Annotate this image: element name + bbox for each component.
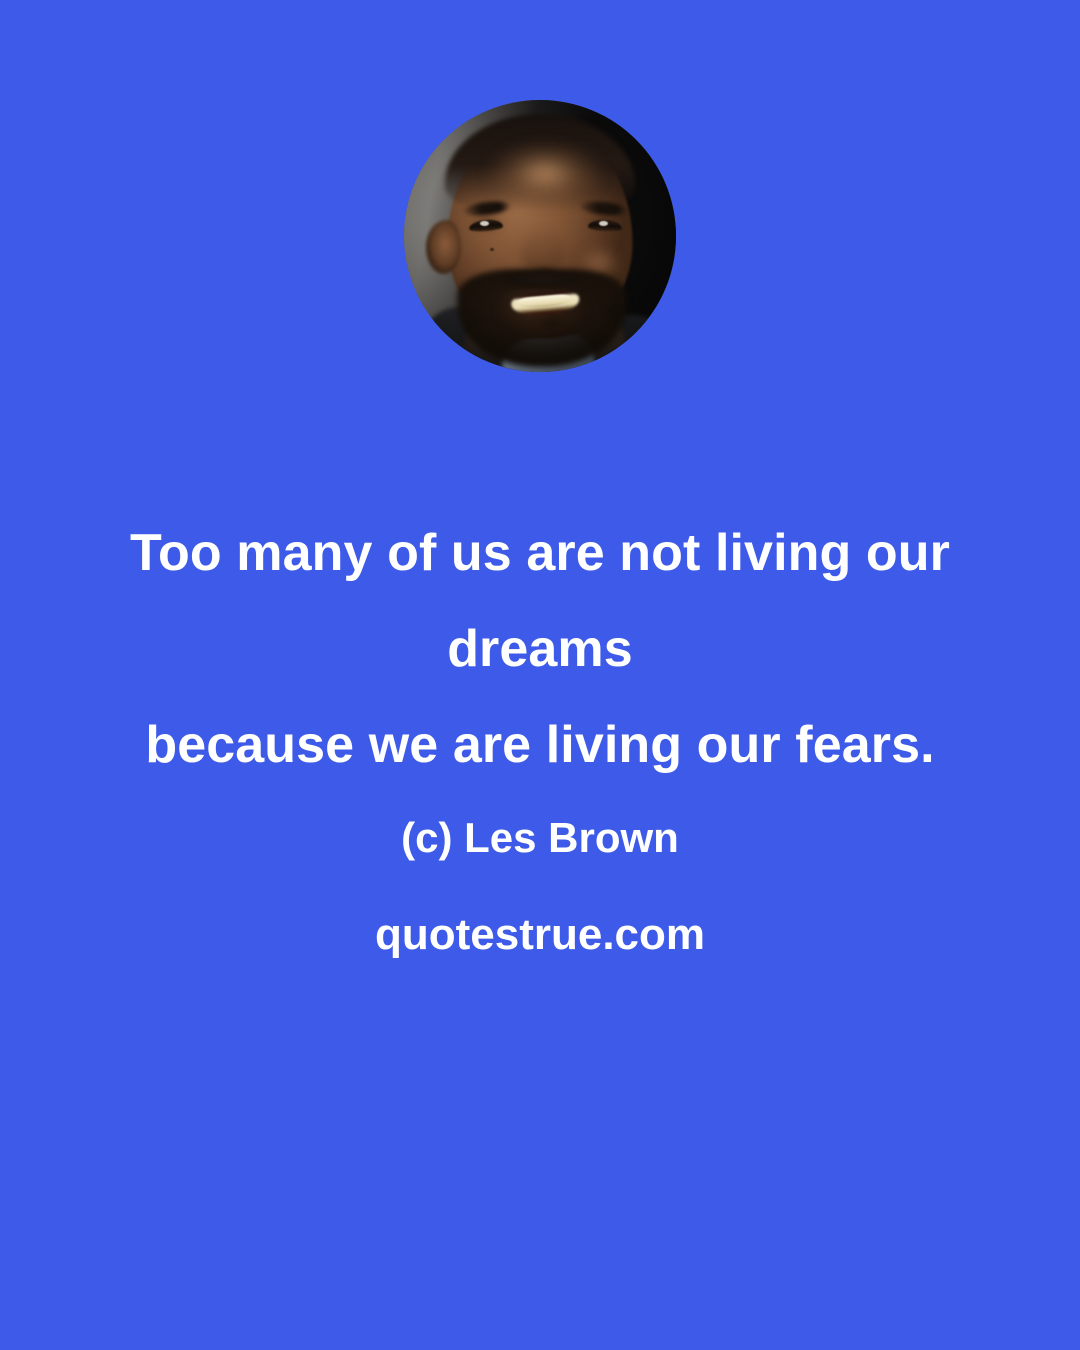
portrait-backdrop (404, 100, 676, 372)
avatar (404, 100, 676, 372)
quote-line-2: because we are living our fears. (52, 697, 1028, 793)
portrait-vignette (404, 100, 676, 372)
portrait-shirt-collar (499, 329, 596, 372)
portrait-jacket-right (578, 315, 670, 372)
portrait-forehead (485, 144, 605, 209)
portrait-moustache (490, 271, 593, 293)
portrait-head (448, 122, 633, 340)
portrait-jacket-left (420, 307, 518, 372)
quote-card: Too many of us are not living our dreams… (0, 0, 1080, 1350)
portrait-catchlight-right (599, 221, 608, 226)
portrait-beard (457, 269, 626, 367)
portrait-eye-socket-right (578, 212, 630, 236)
portrait-hair (445, 114, 635, 212)
portrait-shoulders (464, 296, 627, 372)
portrait-teeth (517, 293, 572, 309)
portrait-eye-socket-left (461, 212, 513, 236)
portrait-ear (426, 220, 461, 274)
quote-line-1: Too many of us are not living our dreams (52, 505, 1028, 697)
portrait-cheek (570, 241, 630, 285)
source-website: quotestrue.com (0, 908, 1080, 962)
portrait-chin-shadow (529, 315, 573, 331)
portrait-nose (521, 228, 565, 274)
portrait-catchlight-left (480, 221, 489, 226)
quote-text: Too many of us are not living our dreams… (0, 505, 1080, 793)
quote-attribution: (c) Les Brown (0, 812, 1080, 864)
portrait-nostrils (532, 267, 559, 275)
portrait-mole (490, 248, 494, 251)
portrait-eye-left (469, 219, 504, 233)
avatar-container (0, 100, 1080, 372)
portrait-mouth (511, 289, 581, 318)
portrait-eyebrow-left (463, 199, 510, 217)
portrait-eyebrow-right (580, 200, 627, 217)
portrait-eye-right (587, 219, 622, 233)
